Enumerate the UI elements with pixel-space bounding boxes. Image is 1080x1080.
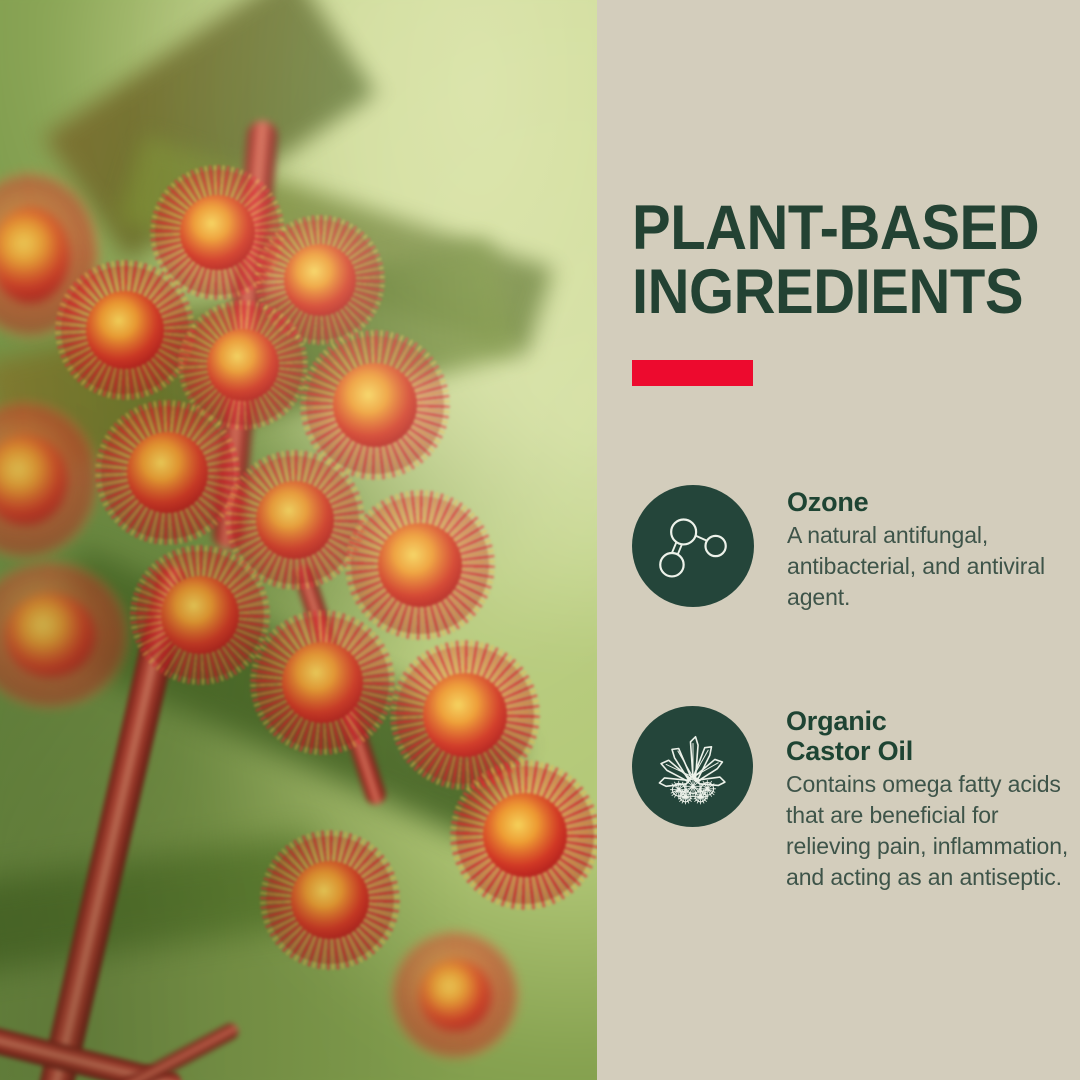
castor-oil-icon-badge	[632, 706, 753, 827]
castor-plant-icon	[651, 725, 735, 809]
ingredients-panel: PLANT-BASED INGREDIENTS Ozone A natural	[597, 0, 1080, 1080]
castor-plant-photo	[0, 0, 597, 1080]
ingredient-item-castor-oil: Organic Castor Oil Contains omega fatty …	[632, 706, 1080, 893]
ingredient-text-block: Ozone A natural antifungal, antibacteria…	[787, 485, 1080, 613]
product-ingredients-infographic: PLANT-BASED INGREDIENTS Ozone A natural	[0, 0, 1080, 1080]
ozone-molecule-icon	[654, 507, 732, 585]
seed-pod	[390, 930, 520, 1060]
ingredient-description: A natural antifungal, antibacterial, and…	[787, 520, 1080, 613]
ingredient-item-ozone: Ozone A natural antifungal, antibacteria…	[632, 485, 1080, 613]
seed-pod	[130, 545, 270, 685]
seed-pod	[450, 760, 597, 910]
ingredient-title: Organic Castor Oil	[786, 706, 1080, 766]
ingredient-title: Ozone	[787, 487, 1080, 517]
ingredient-description: Contains omega fatty acids that are bene…	[786, 769, 1080, 893]
seed-pod	[345, 490, 495, 640]
red-accent-bar	[632, 360, 753, 386]
seed-pod	[250, 610, 395, 755]
ozone-icon-badge	[632, 485, 754, 607]
page-title: PLANT-BASED INGREDIENTS	[632, 196, 1039, 324]
seed-pod	[55, 260, 195, 400]
seed-pod	[95, 400, 240, 545]
seed-pod	[260, 830, 400, 970]
ingredient-text-block: Organic Castor Oil Contains omega fatty …	[786, 706, 1080, 893]
